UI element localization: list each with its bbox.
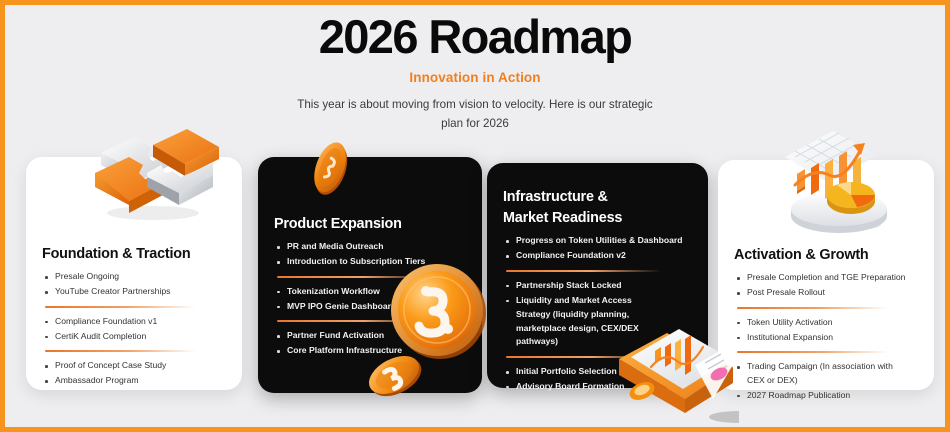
group-divider: [506, 356, 661, 358]
list-item: Compliance Foundation v2: [503, 249, 692, 263]
group-divider: [277, 276, 434, 278]
group-divider: [45, 350, 196, 352]
list-item: Introduction to Subscription Tiers: [274, 255, 466, 269]
list-item: Institutional Expansion: [734, 331, 918, 345]
list-item: Presale Ongoing: [42, 270, 226, 284]
card-title: Foundation & Traction: [42, 245, 226, 264]
milestone-group: Token Utility Activation Institutional E…: [734, 316, 918, 345]
list-item: Initial Portfolio Selection: [503, 365, 692, 379]
list-item: Advisory Board Formation: [503, 380, 692, 394]
page-intro-text: This year is about moving from vision to…: [295, 96, 655, 134]
roadmap-card-activation-growth: Activation & Growth Presale Completion a…: [718, 160, 934, 390]
group-divider: [506, 270, 661, 272]
group-divider: [45, 306, 196, 308]
list-item: Trading Campaign (In association with CE…: [734, 360, 906, 388]
list-item: 2027 Roadmap Publication: [734, 389, 918, 403]
milestone-group: Partnership Stack Locked Liquidity and M…: [503, 279, 692, 350]
milestone-group: Initial Portfolio Selection Advisory Boa…: [503, 365, 692, 394]
card-title-line-1: Infrastructure &: [503, 188, 692, 207]
list-item: PR and Media Outreach: [274, 240, 466, 254]
milestone-group: Partner Fund Activation Core Platform In…: [274, 329, 466, 358]
card-title-line-2: Market Readiness: [503, 209, 692, 228]
milestone-group: Presale Completion and TGE Preparation P…: [734, 271, 918, 300]
list-item: Presale Completion and TGE Preparation: [734, 271, 918, 285]
card-title: Activation & Growth: [734, 246, 918, 265]
milestone-group: PR and Media Outreach Introduction to Su…: [274, 240, 466, 269]
group-divider: [737, 307, 888, 309]
list-item: Liquidity and Market Access Strategy (li…: [503, 294, 668, 350]
list-item: Partner Fund Activation: [274, 329, 466, 343]
list-item: Token Utility Activation: [734, 316, 918, 330]
milestone-group: Tokenization Workflow MVP IPO Genie Dash…: [274, 285, 466, 314]
list-item: Compliance Foundation v1: [42, 315, 226, 329]
roadmap-infographic: 2026 Roadmap Innovation in Action This y…: [0, 0, 950, 432]
list-item: Partnership Stack Locked: [503, 279, 692, 293]
milestone-group: Compliance Foundation v1 CertiK Audit Co…: [42, 315, 226, 344]
roadmap-card-infrastructure-market-readiness: Infrastructure & Market Readiness Progre…: [487, 163, 708, 388]
list-item: YouTube Creator Partnerships: [42, 285, 226, 299]
milestone-group: Proof of Concept Case Study Ambassador P…: [42, 359, 226, 388]
page-subtitle: Innovation in Action: [5, 70, 945, 85]
roadmap-card-product-expansion: Product Expansion PR and Media Outreach …: [258, 157, 482, 393]
page-title: 2026 Roadmap: [5, 9, 945, 64]
milestone-group: Trading Campaign (In association with CE…: [734, 360, 918, 403]
header: 2026 Roadmap Innovation in Action This y…: [5, 9, 945, 134]
milestone-group: Presale Ongoing YouTube Creator Partners…: [42, 270, 226, 299]
list-item: MVP IPO Genie Dashboard v1: [274, 300, 466, 314]
group-divider: [737, 351, 888, 353]
roadmap-card-foundation-traction: Foundation & Traction Presale Ongoing Yo…: [26, 157, 242, 390]
card-title: Product Expansion: [274, 215, 466, 234]
list-item: Ambassador Program: [42, 374, 226, 388]
list-item: CertiK Audit Completion: [42, 330, 226, 344]
milestone-group: Progress on Token Utilities & Dashboard …: [503, 234, 692, 263]
list-item: Core Platform Infrastructure: [274, 344, 466, 358]
list-item: Post Presale Rollout: [734, 286, 918, 300]
list-item: Tokenization Workflow: [274, 285, 466, 299]
group-divider: [277, 320, 434, 322]
list-item: Progress on Token Utilities & Dashboard: [503, 234, 692, 248]
list-item: Proof of Concept Case Study: [42, 359, 226, 373]
